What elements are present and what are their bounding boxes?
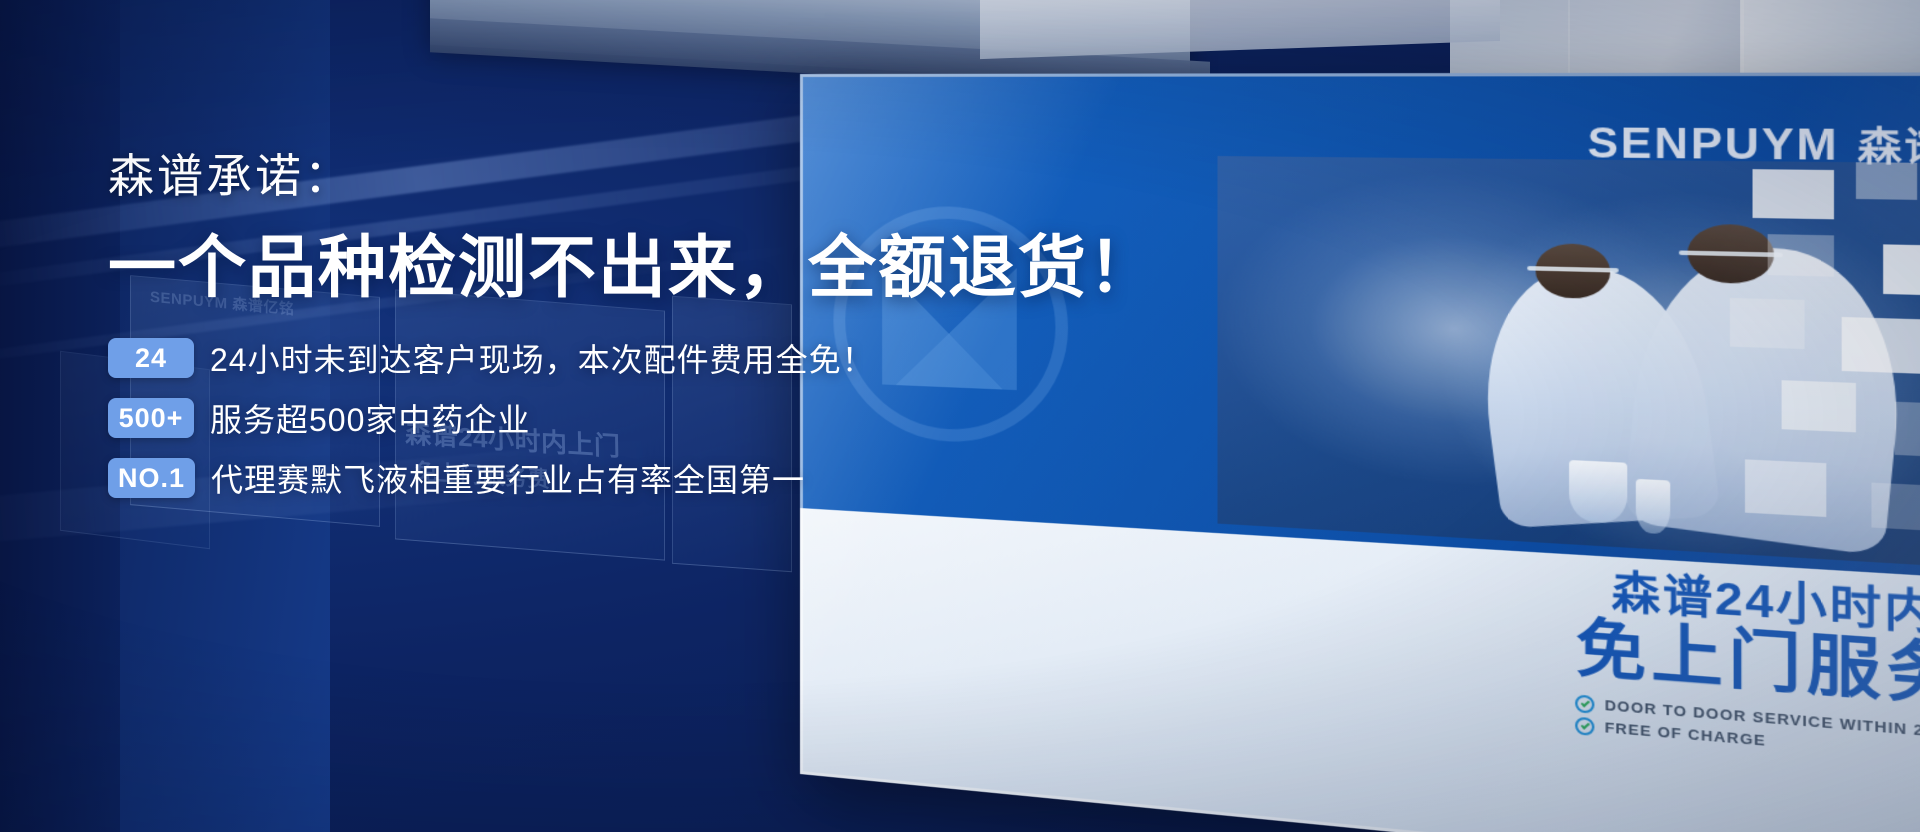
eyebrow-text: 森谱承诺：	[108, 140, 1108, 206]
lab-flask-icon	[1569, 460, 1628, 525]
bullet-item: 24 24小时未到达客户现场，本次配件费用全免！	[108, 335, 1108, 381]
bullet-badge: 500+	[108, 398, 194, 438]
mosaic-square	[1767, 234, 1834, 276]
board-logo-en: SENPUYM	[1587, 121, 1839, 172]
mosaic-square	[1894, 401, 1920, 458]
board-logo-cn: 森谱亿铭	[1857, 115, 1920, 173]
mosaic-decoration	[1716, 161, 1920, 586]
board-bottom-text: 森谱24小时内上门 免上门服务费 DOOR TO DOOR SERVICE WI…	[1576, 566, 1920, 773]
bullet-item: 500+ 服务超500家中药企业	[108, 395, 1108, 441]
mosaic-square	[1883, 245, 1920, 296]
bullet-list: 24 24小时未到达客户现场，本次配件费用全免！ 500+ 服务超500家中药企…	[108, 335, 1108, 501]
headline-text: 一个品种检测不出来，全额退货！	[108, 212, 1108, 311]
mosaic-square	[1872, 482, 1920, 531]
lab-tube-icon	[1636, 479, 1670, 535]
mosaic-square	[1841, 317, 1920, 373]
bullet-badge: NO.1	[108, 458, 195, 498]
bullet-text: 代理赛默飞液相重要行业占有率全国第一	[211, 455, 805, 501]
bullet-text: 服务超500家中药企业	[210, 395, 530, 441]
check-circle-icon	[1576, 716, 1595, 735]
marketing-copy: 森谱承诺： 一个品种检测不出来，全额退货！ 24 24小时未到达客户现场，本次配…	[108, 140, 1108, 501]
banner-stage: SENPUYM 森谱亿铭 森谱24小时内上门 免上门服务费	[0, 0, 1920, 832]
mosaic-square	[1752, 169, 1834, 219]
mosaic-square	[1745, 460, 1826, 517]
bullet-item: NO.1 代理赛默飞液相重要行业占有率全国第一	[108, 455, 1108, 501]
mosaic-square	[1730, 298, 1804, 349]
bullet-text: 24小时未到达客户现场，本次配件费用全免！	[210, 335, 875, 381]
mosaic-square	[1782, 381, 1857, 433]
bullet-badge: 24	[108, 338, 194, 378]
check-circle-icon	[1576, 694, 1595, 713]
board-logo: SENPUYM 森谱亿铭	[1587, 114, 1920, 173]
